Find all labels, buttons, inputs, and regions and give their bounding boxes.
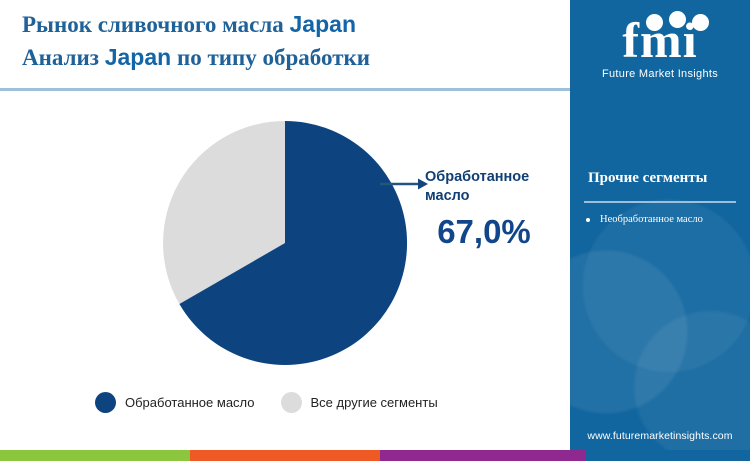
pie-chart-svg xyxy=(162,120,408,366)
title-line-2-prefix: Анализ xyxy=(22,45,105,70)
callout-value: 67,0% xyxy=(425,214,543,250)
title-line-2: Анализ Japan по типу обработки xyxy=(22,41,562,74)
website-url[interactable]: www.futuremarketinsights.com xyxy=(570,430,750,442)
slide-canvas: Рынок сливочного масла Japan Анализ Japa… xyxy=(0,0,750,461)
bar-segment-blue xyxy=(585,450,750,461)
logo-wordmark: fmi xyxy=(590,14,730,66)
callout-label: Обработанное масло xyxy=(425,168,533,206)
logo-tagline: Future Market Insights xyxy=(590,68,730,80)
other-segments-divider xyxy=(584,201,736,203)
title-line-2-suffix: по типу обработки xyxy=(171,45,370,70)
bottom-color-bar xyxy=(0,450,750,461)
right-sidebar: fmi Future Market Insights Прочие сегмен… xyxy=(570,0,750,461)
legend-item-all-other-segments: Все другие сегменты xyxy=(281,392,438,413)
title-line-2-emphasis: Japan xyxy=(105,44,171,70)
legend-swatch-icon xyxy=(281,392,302,413)
page-title: Рынок сливочного масла Japan Анализ Japa… xyxy=(22,8,562,74)
legend-label: Обработанное масло xyxy=(125,395,255,410)
title-line-1: Рынок сливочного масла Japan xyxy=(22,8,562,41)
chart-legend: Обработанное масло Все другие сегменты xyxy=(95,392,438,413)
other-segments-heading: Прочие сегменты xyxy=(588,170,738,187)
legend-item-processed-butter: Обработанное масло xyxy=(95,392,255,413)
legend-swatch-icon xyxy=(95,392,116,413)
bar-segment-purple xyxy=(380,450,585,461)
list-item: Необработанное масло xyxy=(584,212,744,228)
title-line-1-emphasis: Japan xyxy=(290,11,356,37)
bar-segment-orange xyxy=(190,450,380,461)
legend-label: Все другие сегменты xyxy=(311,395,438,410)
fmi-logo[interactable]: fmi Future Market Insights xyxy=(590,8,730,90)
callout-arrow-icon xyxy=(380,176,430,192)
title-line-1-prefix: Рынок сливочного масла xyxy=(22,12,290,37)
title-divider xyxy=(0,88,570,91)
other-segments-list: Необработанное масло xyxy=(584,212,744,228)
bar-segment-green xyxy=(0,450,190,461)
callout-block: Обработанное масло 67,0% xyxy=(425,168,565,250)
